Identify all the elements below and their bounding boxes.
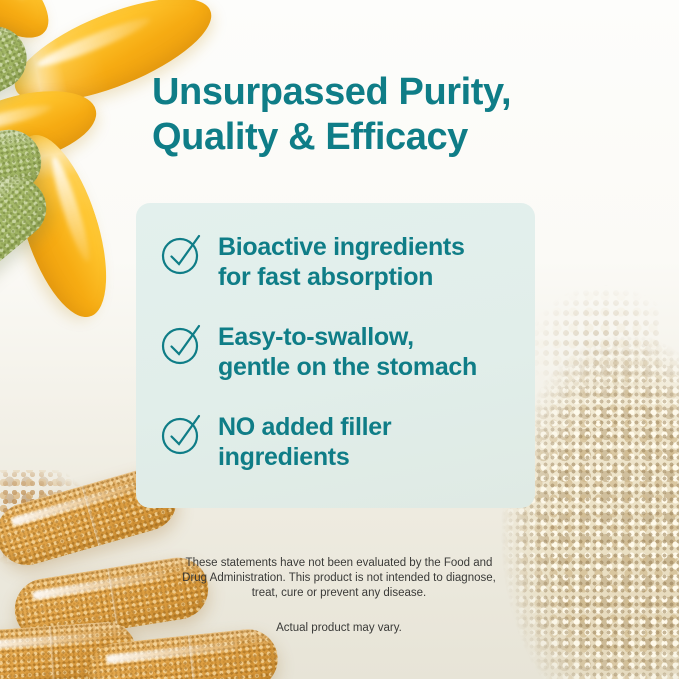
list-item: Bioactive ingredients for fast absorptio…	[160, 230, 540, 292]
check-circle-icon	[160, 322, 204, 366]
capsule-speckle-texture	[0, 164, 59, 327]
page-title: Unsurpassed Purity, Quality & Efficacy	[152, 70, 572, 160]
softgel-capsule	[0, 125, 125, 328]
list-item-label: NO added filler ingredients	[218, 410, 391, 472]
capsule-seam	[81, 485, 101, 545]
capsule-highlight	[105, 641, 238, 664]
fda-disclaimer: These statements have not been evaluated…	[139, 556, 539, 601]
scattered-granules	[0, 470, 112, 580]
capsule-seam	[187, 635, 196, 679]
check-circle-icon	[160, 232, 204, 276]
check-circle-icon	[160, 412, 204, 456]
capsule-speckle-texture	[0, 15, 38, 161]
list-item-label: Bioactive ingredients for fast absorptio…	[218, 230, 465, 292]
green-capsule	[0, 125, 46, 219]
capsule-highlight	[0, 633, 101, 650]
product-variance-note: Actual product may vary.	[139, 621, 539, 636]
list-item: Easy-to-swallow, gentle on the stomach	[160, 320, 540, 382]
product-benefits-graphic: Unsurpassed Purity, Quality & Efficacy B…	[0, 0, 679, 679]
capsule-seam	[107, 568, 120, 630]
capsule-seam	[49, 626, 56, 679]
list-item: NO added filler ingredients	[160, 410, 540, 472]
capsule-speckle-texture	[0, 125, 46, 219]
green-capsule	[0, 15, 38, 161]
softgel-capsule	[0, 78, 104, 178]
capsule-speckle-texture	[0, 620, 138, 679]
benefits-list: Bioactive ingredients for fast absorptio…	[160, 230, 540, 472]
list-item-label: Easy-to-swallow, gentle on the stomach	[218, 320, 477, 382]
softgel-capsule	[0, 0, 64, 55]
capsule-highlight	[10, 483, 137, 528]
green-capsule	[0, 164, 59, 327]
amber-capsule	[0, 620, 138, 679]
